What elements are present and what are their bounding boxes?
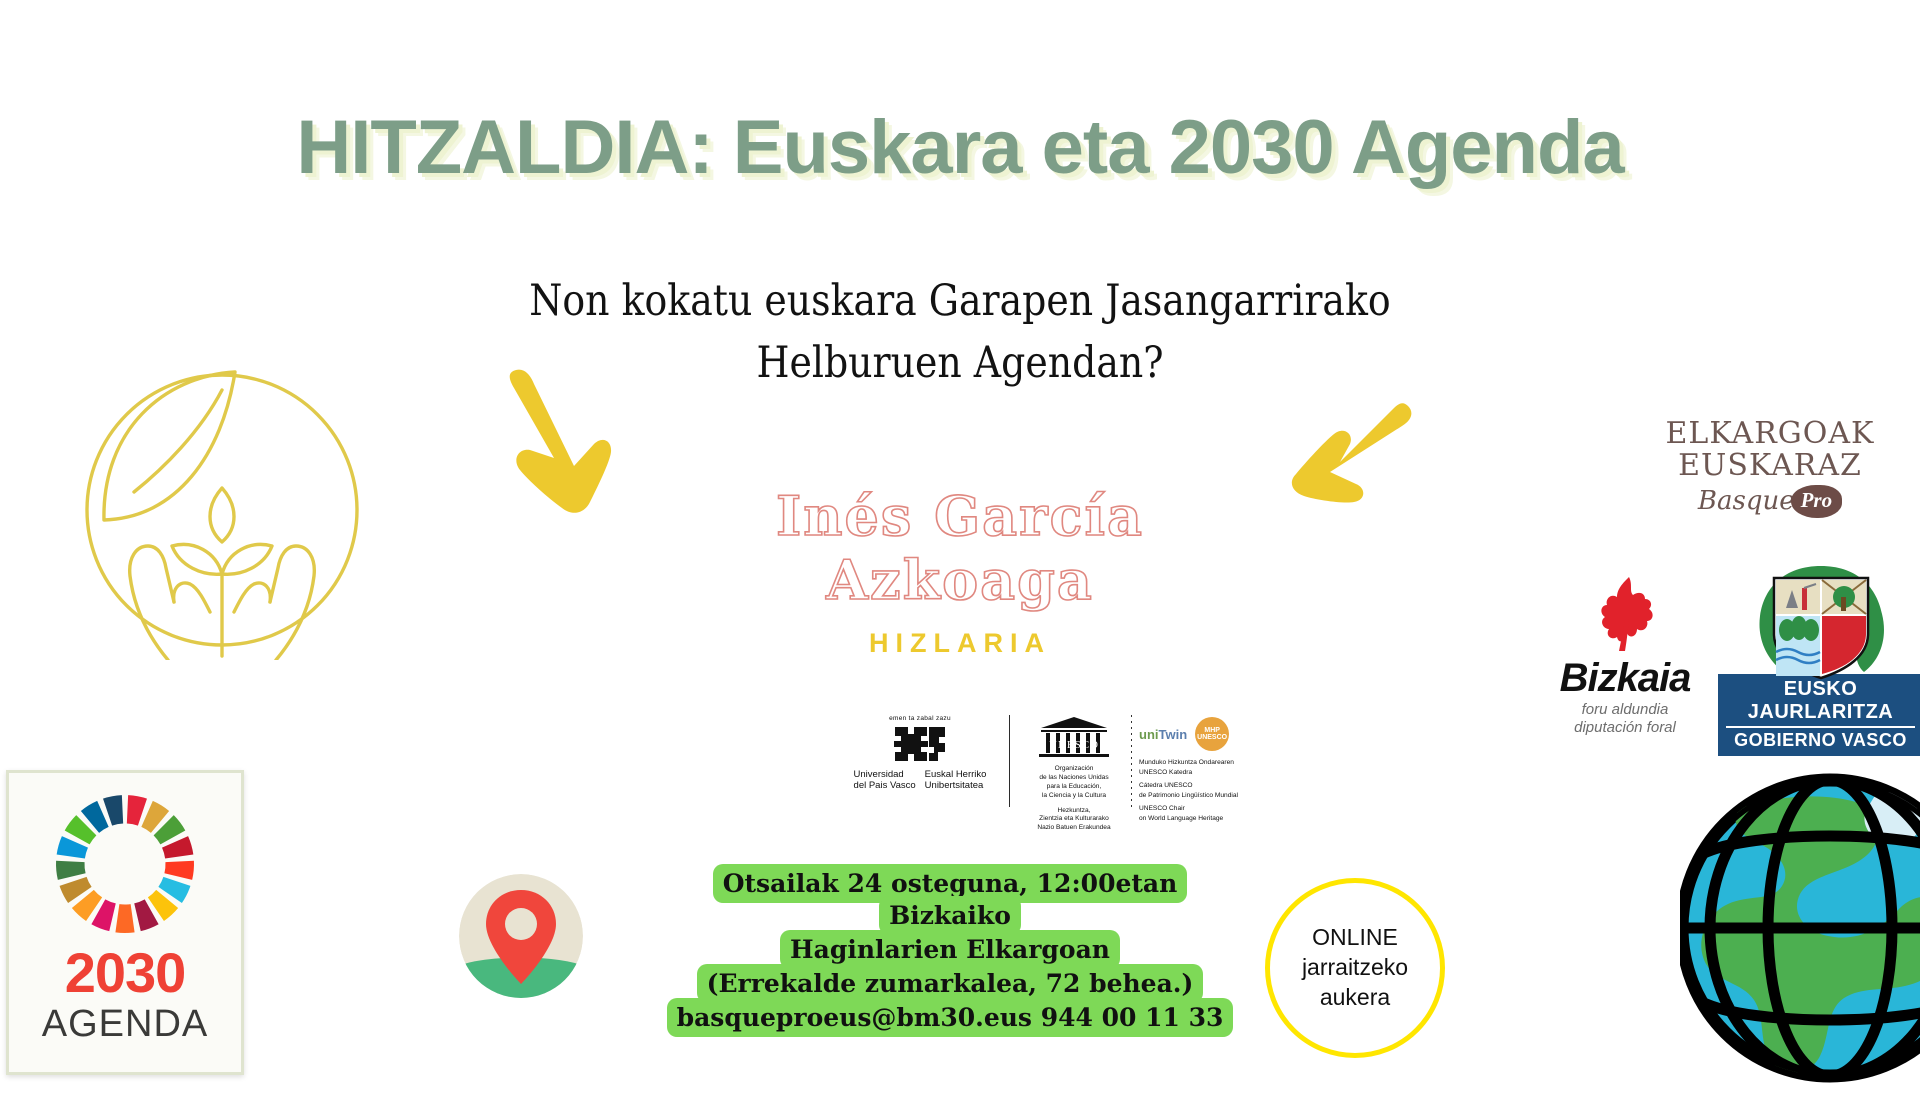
unesco-cap-es-3: para la Educación, [1047, 783, 1102, 790]
unesco-chair-block: uniTwin MHP UNESCO Munduko Hizkuntza Ond… [1139, 715, 1259, 833]
speaker-name: Inés García Azkoaga [700, 485, 1220, 612]
agenda-2030-logo: 2030 AGENDA [6, 770, 244, 1075]
jaurlaritza-eu: EUSKO JAURLARITZA [1718, 678, 1920, 724]
elkargoak-euskaraz-logo: ELKARGOAK EUSKARAZ Basque Pro [1640, 418, 1900, 518]
unitwin-logo: uniTwin [1139, 727, 1187, 742]
chair-en-2: on World Language Heritage [1139, 815, 1223, 822]
basque-word: Basque [1698, 486, 1795, 516]
bizkaia-sub-2: diputación foral [1545, 719, 1705, 737]
ehu-name-eu-1: Euskal Herriko [925, 769, 987, 780]
unesco-caption: Organización de las Naciones Unidas para… [1037, 765, 1110, 833]
chair-en-1: UNESCO Chair [1139, 805, 1185, 812]
svg-text:UNESCO: UNESCO [1049, 739, 1099, 751]
speaker-name-line-2: Azkoaga [700, 549, 1220, 613]
unitwin-text: uni [1139, 727, 1159, 742]
ehu-name-eu-2: Unibertsitatea [925, 780, 984, 791]
elkargoak-line-1: ELKARGOAK [1640, 418, 1900, 450]
dotted-divider [1131, 715, 1132, 807]
unesco-cap-eu-1: Hezkuntza, [1057, 807, 1090, 814]
ehu-mark-icon [889, 723, 951, 765]
unesco-cap-es-4: la Ciencia y la Cultura [1042, 792, 1106, 799]
unesco-chair-caption: Munduko Hizkuntza Ondarearen UNESCO Kate… [1139, 758, 1259, 823]
unesco-logo: UNESCO Organización de las Naciones Unid… [1024, 715, 1124, 833]
location-pin-icon [457, 872, 585, 1000]
unesco-cap-eu-3: Nazio Batuen Erakundea [1037, 824, 1110, 831]
unesco-temple-icon: UNESCO [1037, 715, 1111, 761]
agenda-word: AGENDA [42, 1005, 208, 1043]
sdg-color-wheel-icon [50, 789, 200, 939]
page-title: HITZALDIA: Euskara eta 2030 Agenda [0, 104, 1920, 191]
ehu-name-es-1: Universidad [854, 769, 904, 780]
ehu-motto: emen ta zabal zazu [889, 715, 951, 722]
upv-ehu-logo: emen ta zabal zazu Universidad del Pais … [845, 715, 995, 792]
jaurlaritza-nameplate: EUSKO JAURLARITZA GOBIERNO VASCO [1718, 674, 1920, 756]
unesco-logos: UNESCO Organización de las Naciones Unid… [1024, 715, 1259, 833]
unesco-cap-es-2: de las Naciones Unidas [1039, 774, 1108, 781]
ehu-name-es-2: del Pais Vasco [854, 780, 916, 791]
jaurlaritza-es: GOBIERNO VASCO [1718, 730, 1920, 751]
eusko-jaurlaritza-logo: EUSKO JAURLARITZA GOBIERNO VASCO [1718, 560, 1920, 756]
event-line-1: Otsailak 24 osteguna, 12:00etan Bizkaiko [713, 864, 1188, 935]
unitwin-accent: Twin [1159, 727, 1188, 742]
pro-badge: Pro [1791, 485, 1843, 518]
speaker-name-line-1: Inés García [700, 485, 1220, 549]
agenda-year: 2030 [65, 945, 186, 1001]
globe-icon [1680, 768, 1920, 1088]
bizkaia-sub-1: foru aldundia [1545, 701, 1705, 719]
poster-canvas: HITZALDIA: Euskara eta 2030 Agenda Non k… [0, 0, 1920, 1080]
subtitle-line-1: Non kokatu euskara Garapen Jasangarrirak… [379, 270, 1541, 332]
basque-coat-of-arms-icon [1718, 560, 1920, 680]
arrow-down-left-icon [1290, 392, 1420, 522]
bizkaia-name: Bizkaia [1545, 658, 1705, 698]
bizkaia-logo: Bizkaia foru aldundia diputación foral [1545, 575, 1705, 737]
chair-es-2: de Patrimonio Lingüístico Mundial [1139, 792, 1238, 799]
event-line-4: basqueproeus@bm30.eus 944 00 11 33 [667, 998, 1234, 1037]
unesco-cap-es-1: Organización [1055, 765, 1094, 772]
unesco-cap-eu-2: Zientzia eta Kulturarako [1039, 815, 1109, 822]
chair-eu-1: Munduko Hizkuntza Ondarearen [1139, 759, 1234, 766]
mhp-badge-icon: MHP UNESCO [1195, 717, 1229, 751]
online-option-badge: ONLINE jarraitzeko aukera [1265, 878, 1445, 1058]
sustainability-emblem-icon [72, 360, 372, 660]
chair-eu-2: UNESCO Katedra [1139, 769, 1192, 776]
online-line-1: ONLINE [1312, 923, 1398, 953]
bizkaia-oak-leaf-icon [1589, 575, 1661, 651]
online-line-2: jarraitzeko [1302, 953, 1408, 983]
event-details-banner: Otsailak 24 osteguna, 12:00etan Bizkaiko… [660, 868, 1240, 1036]
arrow-down-right-icon [498, 358, 618, 518]
speaker-role-label: HIZLARIA [700, 628, 1220, 659]
chair-es-1: Cátedra UNESCO [1139, 782, 1193, 789]
online-line-3: aukera [1320, 983, 1390, 1013]
divider [1009, 715, 1010, 807]
institution-logos: emen ta zabal zazu Universidad del Pais … [845, 715, 1315, 825]
elkargoak-line-2: EUSKARAZ [1640, 450, 1900, 482]
